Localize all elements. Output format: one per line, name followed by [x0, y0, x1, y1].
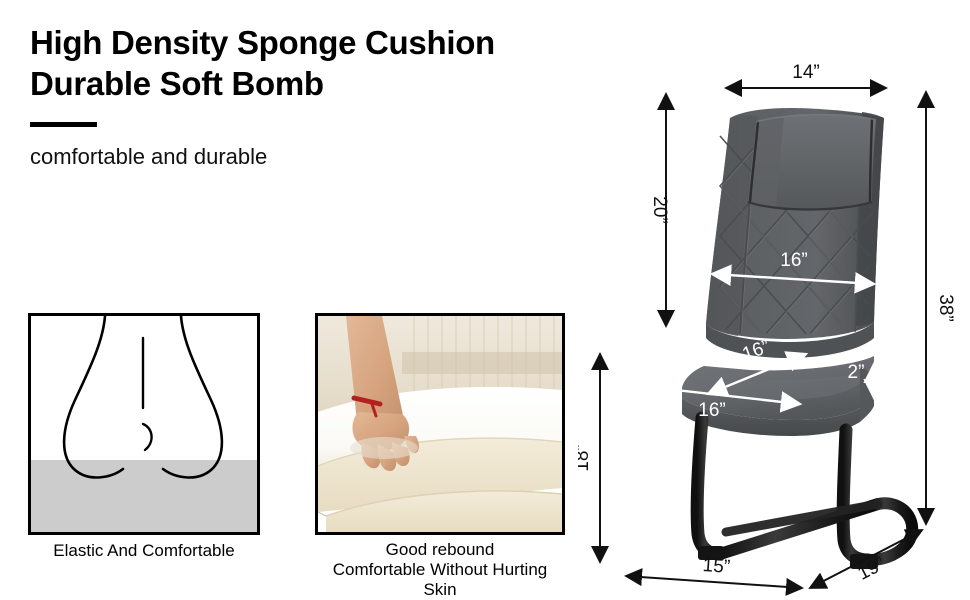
dim-label-16in-width: 16” [698, 400, 725, 421]
lower-curve [143, 424, 152, 450]
dim-label-18in: 18” [578, 444, 593, 471]
feature-panel-elastic: Elastic And Comfortable [28, 313, 260, 561]
dim-label-15in: 15” [702, 555, 731, 578]
dim-label-14in: 14” [792, 62, 819, 83]
dim-back-top-width: 14” [726, 62, 886, 88]
cushion-surface-fill [31, 460, 257, 532]
hand-pressing-foam-photo [318, 316, 562, 532]
chair-dimension-diagram: 14” 20” 38” 16” 16” [578, 26, 970, 600]
dim-back-height: 20” [649, 94, 670, 326]
dim-total-height: 38” [926, 92, 956, 524]
dim-label-2in: 2” [848, 362, 865, 383]
chair-illustration [682, 108, 912, 569]
elastic-illustration-frame [28, 313, 260, 535]
dim-label-20in: 20” [649, 196, 670, 223]
rebound-photo-frame [315, 313, 565, 535]
rebound-panel-caption: Good rebound Comfortable Without Hurting… [315, 540, 565, 600]
feature-panel-rebound: Good rebound Comfortable Without Hurting… [315, 313, 565, 600]
dim-seat-height: 18” [578, 354, 600, 562]
title-divider-rule [30, 122, 97, 127]
seated-body-line-drawing [31, 316, 257, 532]
dim-base-depth: 15” [626, 555, 802, 588]
dim-label-16in-back: 16” [780, 250, 807, 271]
dim-label-38in: 38” [935, 294, 956, 321]
chair-base-frame [697, 418, 912, 569]
elastic-panel-caption: Elastic And Comfortable [28, 541, 260, 561]
dim-base-width: 19” [810, 530, 922, 588]
